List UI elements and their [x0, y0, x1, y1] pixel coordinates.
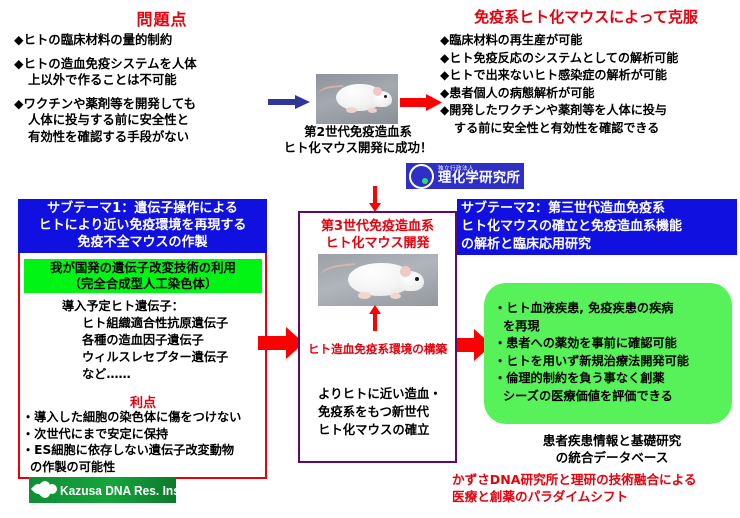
subtheme2-header-line: ヒト化マウスの確立と免疫造血系機能	[461, 218, 737, 236]
outcome-item: ・患者への薬効を事前に確認可能	[494, 335, 730, 353]
genes-heading: 導入予定ヒト遺伝子：	[24, 298, 262, 315]
center-title-line: 第3世代免疫造血系	[300, 218, 455, 235]
red-arrow-down-icon	[368, 186, 382, 212]
mouse-eye	[415, 277, 419, 281]
mouse-foot	[346, 107, 357, 113]
problem-line: 有効性を確認する手段がない	[14, 129, 272, 146]
mouse-foot	[368, 108, 377, 113]
center-desc-line: 免疫系をもつ新世代	[318, 403, 456, 421]
paradigm-line: かずさDNA研究所と理研の技術融合による	[452, 472, 740, 489]
outcome-line: を再現	[494, 318, 730, 336]
technology-line: （完全合成型人工染色体）	[24, 276, 262, 292]
database-line: の統合データベース	[494, 449, 730, 466]
merit-line: の作製の可能性	[22, 459, 266, 476]
merit-line: ・次世代にまで安定に保持	[22, 427, 168, 441]
outcome-line: ・患者への薬効を事前に確認可能	[494, 336, 677, 350]
blue-arrow-right-icon	[268, 95, 310, 109]
riken-name-label: 理化学研究所	[438, 172, 520, 185]
center-desc-line: ヒト化マウスの確立	[318, 421, 456, 439]
database-line: 患者疾患情報と基礎研究	[494, 432, 730, 449]
problem-line: ◆ヒトの臨床材料の量的制約	[14, 32, 172, 47]
gen2-caption-line: 第2世代免疫造血系	[268, 124, 448, 140]
technology-line: 我が国発の遺伝子改変技術の利用	[24, 260, 262, 276]
overcome-line: ◆開発したワクチンや薬剤等を人体に投与	[440, 103, 667, 117]
kazusa-mark-icon	[33, 481, 57, 499]
gene-item: など……	[24, 366, 262, 383]
overcome-item: ◆ヒトで出来ないヒト感染症の解析が可能	[440, 67, 736, 85]
overcome-line: ◆ヒトで出来ないヒト感染症の解析が可能	[440, 68, 667, 82]
kazusa-logo: Kazusa DNA Res. Inst.	[29, 477, 176, 503]
problem-line: 上以外で作ることは不可能	[14, 72, 272, 89]
gene-item: ウィルスレセプター遺伝子	[24, 349, 262, 366]
gen2-caption: 第2世代免疫造血系 ヒト化マウス開発に成功！	[268, 124, 448, 156]
database-text: 患者疾患情報と基礎研究 の統合データベース	[494, 432, 730, 466]
subtheme1-header-line: ヒトにより近い免疫環境を再現する	[18, 217, 267, 234]
outcome-line: ・倫理的制約を負う事なく創薬	[494, 371, 665, 385]
problems-title: 問題点	[62, 6, 262, 30]
merit-list: ・導入した細胞の染色体に傷をつけない ・次世代にまで安定に保持 ・ES細胞に依存…	[22, 409, 266, 475]
problem-line: 人体に投与する前に安全性と	[14, 112, 272, 129]
problem-item: ◆ヒトの臨床材料の量的制約	[14, 32, 272, 49]
gen2-mouse-photo	[316, 74, 398, 124]
subtheme2-header: サブテーマ2：第三世代造血免疫系 ヒト化マウスの確立と免疫造血系機能 の解析と臨…	[457, 199, 737, 255]
problem-item: ◆ワクチンや薬剤等を開発しても 人体に投与する前に安全性と 有効性を確認する手段…	[14, 96, 272, 146]
merit-item: ・次世代にまで安定に保持	[22, 426, 266, 443]
center-title-line: ヒト化マウス開発	[300, 235, 455, 252]
overcome-item: ◆臨床材料の再生産が可能	[440, 32, 736, 50]
subtheme1-header-line: サブテーマ1：遺伝子操作による	[18, 200, 267, 217]
gen2-caption-line: ヒト化マウス開発に成功！	[268, 140, 448, 156]
problem-line: ◆ワクチンや薬剤等を開発しても	[14, 96, 196, 111]
subtheme1-header-line: 免疫不全マウスの作製	[18, 234, 267, 251]
outcomes-list: ・ヒト血液疾患, 免疫疾患の疾病 を再現 ・患者への薬効を事前に確認可能 ・ヒト…	[494, 300, 730, 405]
merit-item: ・導入した細胞の染色体に傷をつけない	[22, 409, 266, 426]
gen3-mouse-photo	[318, 254, 438, 306]
subtheme1-genes-list: 導入予定ヒト遺伝子： ヒト組織適合性抗原遺伝子 各種の造血因子遺伝子 ウィルスレ…	[24, 298, 262, 383]
outcome-line: ・ヒト血液疾患, 免疫疾患の疾病	[494, 301, 674, 315]
overcome-line: ◆患者個人の病態解析が可能	[440, 86, 594, 100]
center-title: 第3世代免疫造血系 ヒト化マウス開発	[300, 218, 455, 252]
mouse-ear	[373, 87, 382, 96]
merit-item: ・ES細胞に依存しない遺伝子改変動物 の作製の可能性	[22, 442, 266, 475]
gene-item: 各種の造血因子遺伝子	[24, 332, 262, 349]
mouse-ear	[400, 266, 411, 277]
merit-line: ・ES細胞に依存しない遺伝子改変動物	[22, 443, 234, 457]
problems-list: ◆ヒトの臨床材料の量的制約 ◆ヒトの造血免疫システムを人体 上以外で作ることは不…	[14, 32, 272, 152]
overcome-item: ◆開発したワクチンや薬剤等を人体に投与 する前に安全性と有効性を確認できる	[440, 102, 736, 137]
overcome-item: ◆ヒト免疫反応のシステムとしての解析可能	[440, 50, 736, 68]
center-description: よりヒトに近い造血・ 免疫系をもつ新世代 ヒト化マウスの確立	[306, 385, 456, 439]
outcome-item: ・ヒトを用いず新規治療法開発可能	[494, 353, 730, 371]
overcome-list: ◆臨床材料の再生産が可能 ◆ヒト免疫反応のシステムとしての解析可能 ◆ヒトで出来…	[440, 32, 736, 137]
outcome-item: ・ヒト血液疾患, 免疫疾患の疾病 を再現	[494, 300, 730, 335]
overcome-item: ◆患者個人の病態解析が可能	[440, 85, 736, 103]
outcome-line: シーズの医療価値を評価できる	[494, 388, 730, 406]
center-desc-line: よりヒトに近い造血・	[318, 385, 456, 403]
subtheme2-header-line: の解析と臨床応用研究	[461, 236, 737, 254]
problem-line: ◆ヒトの造血免疫システムを人体	[14, 56, 197, 71]
red-arrow-up-icon	[368, 305, 382, 331]
kazusa-name-label: Kazusa DNA Res. Inst.	[60, 483, 176, 498]
paradigm-line: 医療と創薬のパラダイムシフト	[452, 489, 740, 506]
outcome-item: ・倫理的制約を負う事なく創薬 シーズの医療価値を評価できる	[494, 370, 730, 405]
subtheme2-header-line: サブテーマ2：第三世代造血免疫系	[461, 200, 737, 218]
overcome-title: 免疫系ヒト化マウスによって克服	[436, 6, 736, 27]
mouse-eye	[384, 95, 387, 98]
overcome-line: ◆ヒト免疫反応のシステムとしての解析可能	[440, 51, 678, 65]
subtheme1-header: サブテーマ1：遺伝子操作による ヒトにより近い免疫環境を再現する 免疫不全マウス…	[18, 199, 267, 253]
overcome-line: ◆臨床材料の再生産が可能	[440, 33, 582, 47]
riken-mark-icon	[409, 164, 434, 189]
mouse-foot	[390, 293, 401, 299]
overcome-line: する前に安全性と有効性を確認できる	[440, 120, 736, 138]
subtheme1-technology-banner: 我が国発の遺伝子改変技術の利用 （完全合成型人工染色体）	[24, 259, 262, 293]
mouse-foot	[358, 292, 371, 299]
problem-item: ◆ヒトの造血免疫システムを人体 上以外で作ることは不可能	[14, 56, 272, 89]
paradigm-text: かずさDNA研究所と理研の技術融合による 医療と創薬のパラダイムシフト	[452, 472, 740, 505]
gene-item: ヒト組織適合性抗原遺伝子	[24, 315, 262, 332]
merit-line: ・導入した細胞の染色体に傷をつけない	[22, 410, 241, 424]
red-arrow-right-icon	[400, 94, 442, 111]
outcome-line: ・ヒトを用いず新規治療法開発可能	[494, 354, 689, 368]
riken-logo: 独立行政法人 理化学研究所	[406, 163, 524, 189]
center-subtitle: ヒト造血免疫系環境の構築	[300, 341, 455, 357]
